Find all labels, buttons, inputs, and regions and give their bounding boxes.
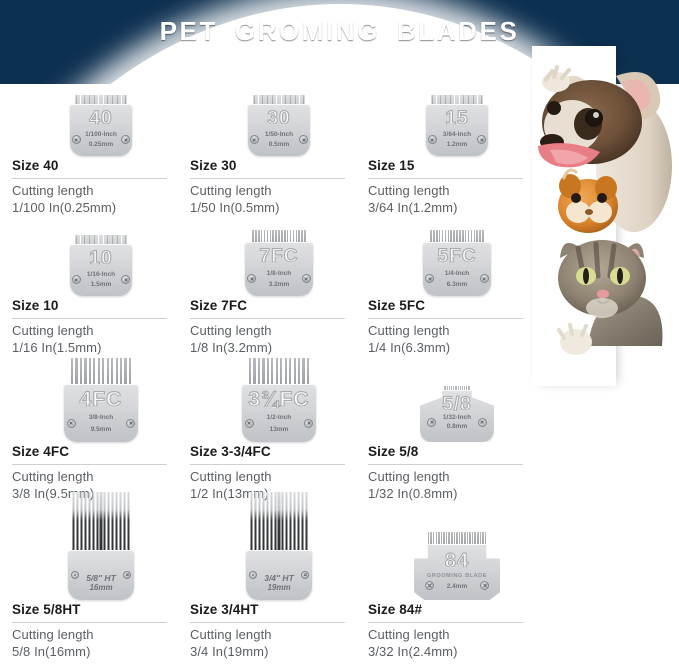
caption-divider	[368, 178, 523, 179]
blade-image: 84GROOMING BLADE2.4mm	[414, 528, 500, 600]
cutting-length-value: 1/4 In(6.3mm)	[368, 340, 538, 357]
blade-body: 4FC3/8-Inch9.5mm	[64, 384, 138, 442]
blade-tooth	[262, 492, 264, 554]
blade-tooth	[84, 492, 86, 554]
cutting-length-value: 3/32 In(2.4mm)	[368, 644, 538, 661]
blade-image: 401/100-Inch0.25mm	[70, 91, 132, 156]
blade-size-label: Size 10	[12, 298, 182, 314]
blade-teeth	[69, 354, 133, 388]
blade-tooth	[282, 492, 284, 554]
cutting-length-label: Cutting length	[190, 627, 360, 644]
caption-divider	[190, 622, 345, 623]
cutting-length-label: Cutting length	[368, 469, 538, 486]
pets-illustration	[516, 46, 679, 386]
blade-teeth	[247, 354, 311, 388]
blade-stage: 84GROOMING BLADE2.4mm	[368, 528, 546, 600]
blade-image: 5FC1/4-Inch6.3mm	[423, 226, 491, 296]
caption-divider	[368, 318, 523, 319]
blade-caption: Size 7FCCutting length1/8 In(3.2mm)	[190, 298, 360, 356]
cutting-length-label: Cutting length	[368, 627, 538, 644]
blade-caption: Size 5/8HTCutting length5/8 In(16mm)	[12, 602, 182, 660]
blade-tooth	[278, 492, 280, 554]
blade-caption: Size 5FCCutting length1/4 In(6.3mm)	[368, 298, 538, 356]
blade-screw-right	[304, 419, 313, 428]
blade-engraved-number: 7FC	[245, 246, 313, 268]
blade-tooth	[100, 492, 102, 554]
blade-tooth	[258, 492, 260, 554]
blade-body: 7FC1/8-Inch3.2mm	[245, 242, 313, 296]
blade-caption: Size 40Cutting length1/100 In(0.25mm)	[12, 158, 182, 216]
caption-divider	[368, 622, 523, 623]
blade-stage: 5/81/32-Inch0.8mm	[368, 382, 546, 442]
caption-divider	[368, 464, 523, 465]
blade-image: 7FC1/8-Inch3.2mm	[245, 226, 313, 296]
blade-teeth	[251, 488, 308, 554]
blade-tooth	[76, 492, 78, 554]
blade-body: 5/81/32-Inch0.8mm	[420, 390, 494, 442]
blade-image: 301/50-Inch0.5mm	[248, 91, 310, 156]
blade-size-label: Size 5FC	[368, 298, 538, 314]
caption-divider	[12, 622, 167, 623]
blade-tooth	[286, 492, 288, 554]
blade-screw-right	[126, 419, 135, 428]
blade-screw-left	[428, 135, 437, 144]
blade-size-label: Size 5/8	[368, 444, 538, 460]
blade-tooth	[290, 492, 292, 554]
caption-divider	[12, 178, 167, 179]
blade-screw-left	[425, 581, 434, 590]
caption-divider	[12, 464, 167, 465]
blade-screw-right	[478, 418, 487, 427]
cutting-length-value: 5/8 In(16mm)	[12, 644, 182, 661]
blade-tooth	[250, 492, 252, 554]
page-title: PET GROMING BLADES	[0, 16, 679, 47]
cutting-length-label: Cutting length	[12, 323, 182, 340]
blade-caption: Size 10Cutting length1/16 In(1.5mm)	[12, 298, 182, 356]
blade-size-label: Size 4FC	[12, 444, 182, 460]
blade-engraved-number: 15	[426, 108, 488, 130]
blade-screw-left	[245, 419, 254, 428]
cutting-length-value: 3/4 In(19mm)	[190, 644, 360, 661]
blade-brand-text: GROOMING BLADE	[414, 573, 500, 579]
blade-size-label: Size 84#	[368, 602, 538, 618]
blade-tooth	[120, 492, 122, 554]
blade-engraved-number: 4FC	[64, 388, 138, 412]
blade-stage: 7FC1/8-Inch3.2mm	[190, 226, 368, 296]
blade-body: 101/16-Inch1.5mm	[70, 244, 132, 296]
blade-size-label: Size 7FC	[190, 298, 360, 314]
blade-body: 301/50-Inch0.5mm	[248, 104, 310, 156]
caption-divider	[12, 318, 167, 319]
blade-size-label: Size 5/8HT	[12, 602, 182, 618]
cutting-length-value: 1/100 In(0.25mm)	[12, 200, 182, 217]
blade-tooth	[88, 492, 90, 554]
blade-tooth	[92, 492, 94, 554]
blade-caption: Size 15Cutting length3/64 In(1.2mm)	[368, 158, 538, 216]
blade-tooth	[266, 492, 268, 554]
blade-engraved-number: 30	[248, 108, 310, 130]
blade-tooth	[112, 492, 114, 554]
cutting-length-label: Cutting length	[190, 469, 360, 486]
blade-tooth	[80, 492, 82, 554]
blade-image: 153/64-Inch1.2mm	[426, 91, 488, 156]
cutting-length-label: Cutting length	[368, 183, 538, 200]
blade-tooth	[127, 492, 129, 554]
blade-tooth	[270, 492, 272, 554]
blade-tooth	[104, 492, 106, 554]
blade-image: 4FC3/8-Inch9.5mm	[64, 354, 138, 442]
blade-engraved-number: 3¾FC	[242, 388, 316, 412]
blade-tooth	[305, 492, 307, 554]
blade-engraved-number: 5FC	[423, 246, 491, 268]
caption-divider	[190, 318, 345, 319]
cutting-length-label: Cutting length	[12, 469, 182, 486]
blade-tooth	[294, 492, 296, 554]
blade-tooth	[72, 492, 74, 554]
blade-caption: Size 84#Cutting length3/32 In(2.4mm)	[368, 602, 538, 660]
cutting-length-label: Cutting length	[12, 627, 182, 644]
caption-divider	[190, 464, 345, 465]
blade-teeth	[73, 488, 130, 554]
product-infographic: PET GROMING BLADES 401/100-Inch0.25mmSiz…	[0, 0, 679, 671]
blade-tooth	[254, 492, 256, 554]
blade-size-label: Size 15	[368, 158, 538, 174]
blade-screw-left	[250, 135, 259, 144]
blade-caption: Size 5/8Cutting length1/32 In(0.8mm)	[368, 444, 538, 502]
blade-engraved-number: 40	[70, 108, 132, 130]
blade-tooth	[108, 492, 110, 554]
blade-image: 3/4" HT19mm	[246, 488, 312, 600]
caption-divider	[190, 178, 345, 179]
blade-screw-left	[72, 135, 81, 144]
blade-tooth	[301, 492, 303, 554]
blade-tooth	[123, 492, 125, 554]
pets-peeking-photo	[516, 46, 679, 386]
cutting-length-label: Cutting length	[190, 183, 360, 200]
blade-image: 3¾FC1/2-Inch13mm	[242, 354, 316, 442]
blade-engraved-number: 10	[70, 248, 132, 270]
blade-screw-left	[427, 418, 436, 427]
blade-size-label: Size 40	[12, 158, 182, 174]
cutting-length-label: Cutting length	[190, 323, 360, 340]
blade-engraved-number: 84	[414, 550, 500, 573]
blade-body: 5FC1/4-Inch6.3mm	[423, 242, 491, 296]
cutting-length-value: 3/64 In(1.2mm)	[368, 200, 538, 217]
blade-tooth	[274, 492, 276, 554]
blade-screw-left	[71, 571, 79, 579]
blade-stage: 3¾FC1/2-Inch13mm	[190, 354, 368, 442]
blade-screw-left	[249, 571, 257, 579]
blade-screw-left	[67, 419, 76, 428]
blade-caption: Size 30Cutting length1/50 In(0.5mm)	[190, 158, 360, 216]
blade-body: 153/64-Inch1.2mm	[426, 104, 488, 156]
blade-screw-right	[480, 581, 489, 590]
blade-tooth	[298, 492, 300, 554]
blade-body: 401/100-Inch0.25mm	[70, 104, 132, 156]
blade-image: 5/8" HT16mm	[68, 488, 134, 600]
blade-body: 3¾FC1/2-Inch13mm	[242, 384, 316, 442]
blade-body: 84GROOMING BLADE2.4mm	[414, 544, 500, 600]
blade-stage: 4FC3/8-Inch9.5mm	[12, 354, 190, 442]
blade-stage: 5/8" HT16mm	[12, 488, 190, 600]
blade-image: 101/16-Inch1.5mm	[70, 231, 132, 296]
blade-size-label: Size 3-3/4FC	[190, 444, 360, 460]
cutting-length-value: 1/50 In(0.5mm)	[190, 200, 360, 217]
blade-tooth	[96, 492, 98, 554]
blade-stage: 401/100-Inch0.25mm	[12, 91, 190, 156]
blade-body: 3/4" HT19mm	[246, 550, 312, 600]
blade-caption: Size 3/4HTCutting length3/4 In(19mm)	[190, 602, 360, 660]
blade-tooth	[116, 492, 118, 554]
blade-size-label: Size 30	[190, 158, 360, 174]
cutting-length-value: 1/32 In(0.8mm)	[368, 486, 538, 503]
blade-stage: 101/16-Inch1.5mm	[12, 231, 190, 296]
blade-stage: 3/4" HT19mm	[190, 488, 368, 600]
blade-size-label: Size 3/4HT	[190, 602, 360, 618]
cutting-length-label: Cutting length	[12, 183, 182, 200]
blade-engraved-number: 5/8	[420, 394, 494, 416]
blade-image: 5/81/32-Inch0.8mm	[420, 382, 494, 442]
blade-stage: 301/50-Inch0.5mm	[190, 91, 368, 156]
cutting-length-label: Cutting length	[368, 323, 538, 340]
blade-screw-left	[72, 275, 81, 284]
blade-mm-text: 16mm	[68, 583, 134, 592]
blade-body: 5/8" HT16mm	[68, 550, 134, 600]
blade-mm-text: 19mm	[246, 583, 312, 592]
